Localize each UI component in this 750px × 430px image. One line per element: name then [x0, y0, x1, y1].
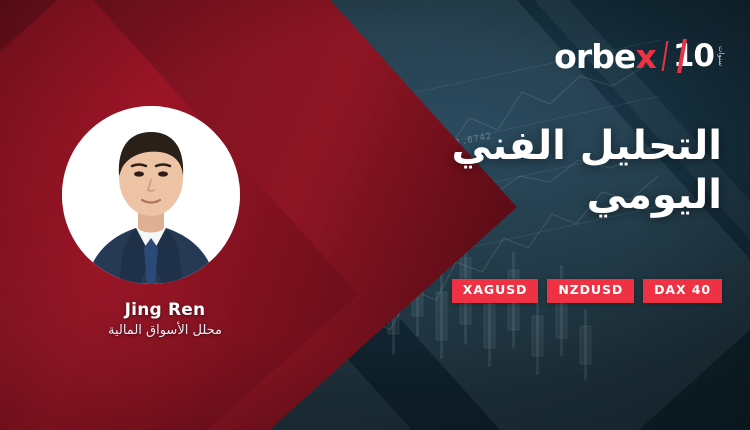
promo-banner: 1.0742 1.0742 — [0, 0, 750, 430]
person-name: Jing Ren — [0, 300, 330, 320]
status-badge[interactable]: DAX 40 — [643, 279, 722, 303]
brand-wordmark-prefix: orbe — [554, 40, 635, 73]
page-title: التحليل الفني اليومي — [282, 122, 722, 220]
instrument-badges: XAGUSD NZDUSD DAX 40 — [452, 279, 722, 303]
avatar — [62, 106, 240, 284]
person-role: محلل الأسواق المالية — [0, 323, 330, 338]
headline-line-2: اليومي — [282, 171, 722, 220]
portrait-illustration — [62, 106, 240, 284]
anniversary-label: سنوات — [717, 46, 724, 66]
logo-divider-icon — [661, 41, 668, 71]
person-info: Jing Ren محلل الأسواق المالية — [0, 300, 330, 338]
anniversary-number: 10 — [673, 41, 714, 72]
brand-wordmark: orbex — [554, 40, 656, 73]
brand-logo[interactable]: orbex 10 سنوات — [554, 36, 724, 76]
brand-wordmark-accent: x — [635, 40, 655, 73]
status-badge[interactable]: XAGUSD — [452, 279, 539, 303]
headline-line-1: التحليل الفني — [282, 122, 722, 171]
status-badge[interactable]: NZDUSD — [547, 279, 634, 303]
